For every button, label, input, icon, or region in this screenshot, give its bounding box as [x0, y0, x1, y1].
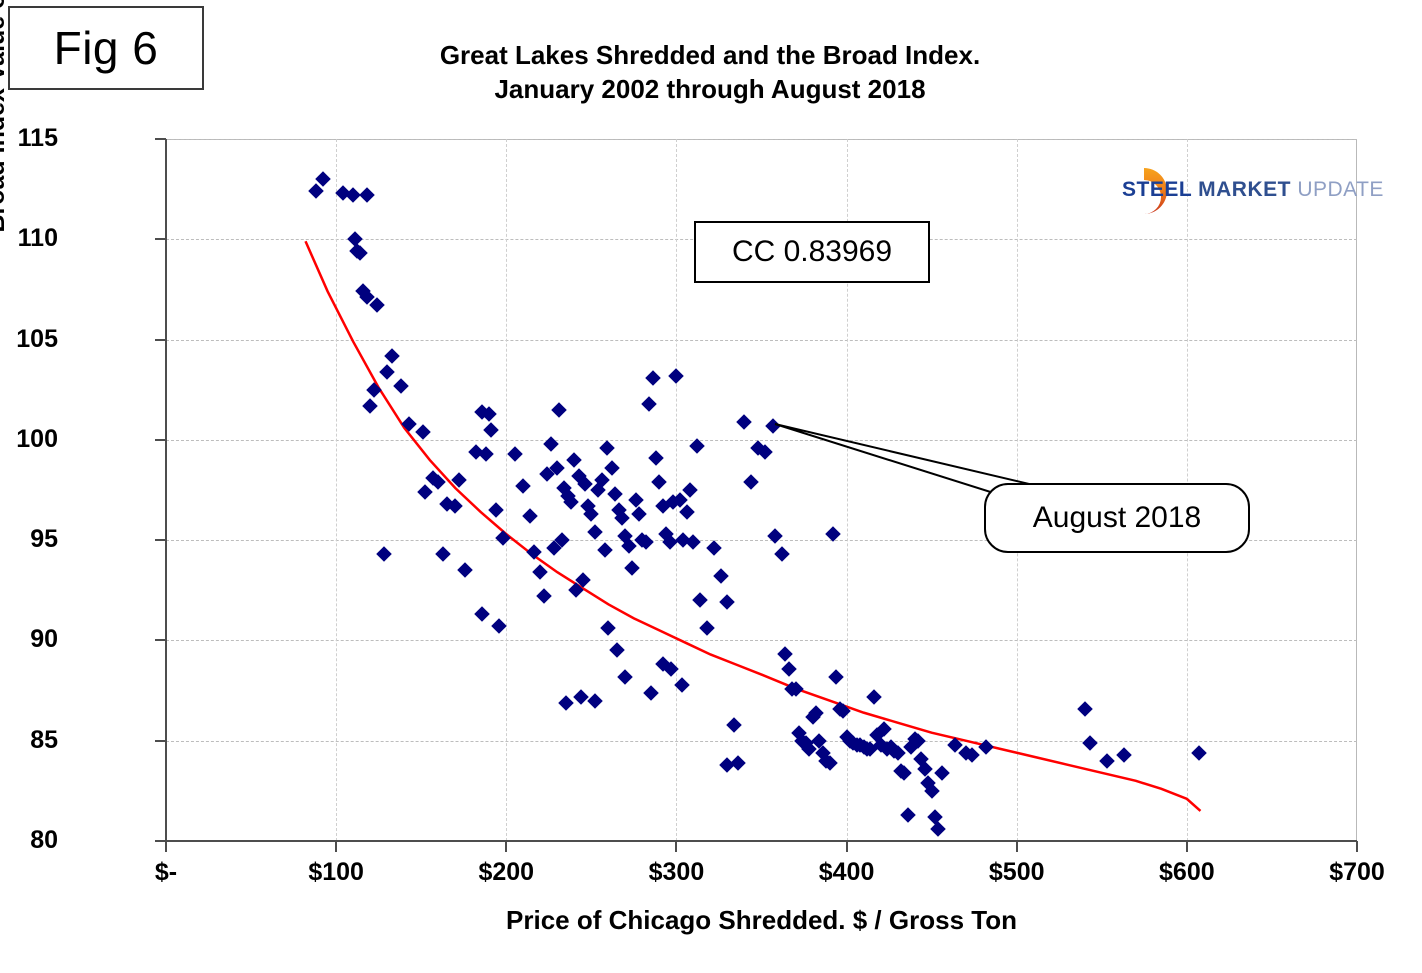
x-axis-line — [166, 840, 1357, 842]
y-tick-label: 80 — [0, 826, 58, 855]
y-tick-label: 90 — [0, 625, 58, 654]
logo-text: STEEL MARKET UPDATE — [1122, 178, 1384, 202]
y-tick-label: 105 — [0, 325, 58, 354]
x-tick-label: $700 — [1297, 858, 1417, 887]
y-axis-line — [165, 139, 167, 841]
x-tick-mark — [335, 841, 337, 852]
x-tick-label: $400 — [787, 858, 907, 887]
x-tick-label: $200 — [446, 858, 566, 887]
x-tick-mark — [1356, 841, 1358, 852]
x-tick-label: $- — [106, 858, 226, 887]
x-tick-mark — [846, 841, 848, 852]
logo-word-update: UPDATE — [1297, 178, 1384, 201]
x-tick-label: $100 — [276, 858, 396, 887]
callout-label: August 2018 — [1033, 501, 1201, 535]
y-tick-label: 110 — [0, 224, 58, 253]
logo-word-market: MARKET — [1198, 178, 1291, 201]
correlation-annotation: CC 0.83969 — [694, 221, 930, 283]
x-tick-label: $300 — [616, 858, 736, 887]
x-tick-mark — [1186, 841, 1188, 852]
y-tick-label: 85 — [0, 726, 58, 755]
y-tick-label: 100 — [0, 425, 58, 454]
y-tick-label: 115 — [0, 124, 58, 153]
x-tick-mark — [1016, 841, 1018, 852]
august-2018-callout: August 2018 — [984, 483, 1250, 553]
y-tick-label: 95 — [0, 525, 58, 554]
steel-market-update-logo: STEEL MARKET UPDATE — [1092, 160, 1350, 222]
x-tick-mark — [675, 841, 677, 852]
x-tick-label: $500 — [957, 858, 1077, 887]
x-axis-title: Price of Chicago Shredded. $ / Gross Ton — [166, 905, 1357, 936]
logo-word-steel: STEEL — [1122, 178, 1192, 201]
x-tick-mark — [505, 841, 507, 852]
x-tick-mark — [165, 841, 167, 852]
correlation-label: CC 0.83969 — [732, 235, 892, 269]
x-tick-label: $600 — [1127, 858, 1247, 887]
